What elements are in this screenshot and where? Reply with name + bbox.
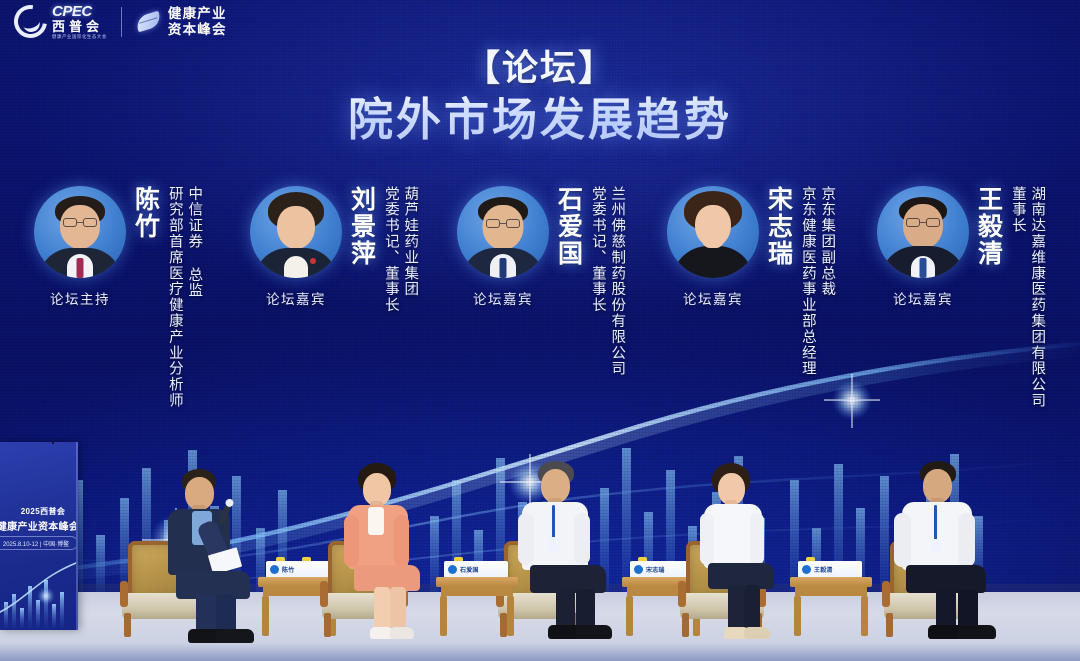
logo-dot-icon (270, 565, 279, 574)
logo-dot-icon (448, 565, 457, 574)
avatar (250, 186, 342, 278)
logo-dot-icon (802, 565, 811, 574)
panelist-title-line: 湖南达嘉维康医药集团有限公司 (1029, 186, 1044, 409)
rollup-line3: 2025.8.10-12 | 中国·博鳌 (0, 536, 78, 550)
avatar (457, 186, 549, 278)
panelist-card: 论坛嘉宾 刘景萍 葫芦娃药业集团 党委书记、董事长 (248, 186, 417, 313)
panelist-titles: 葫芦娃药业集团 党委书记、董事长 (379, 186, 418, 313)
panelist-seated (890, 455, 1002, 639)
panelist-title-line: 中信证券 总监 (186, 186, 201, 409)
panelist-name: 石爱国 (555, 186, 581, 267)
logo-dot-icon (634, 565, 643, 574)
panelist-seated (512, 455, 620, 639)
panelist-role: 论坛主持 (32, 288, 128, 308)
panelist-titles: 兰州佛慈制药股份有限公司 党委书记、董事长 (586, 186, 625, 377)
panelist-title-line: 党委书记、董事长 (383, 186, 398, 313)
panelist-name: 王毅清 (975, 186, 1001, 267)
forum-title-block: 【论坛】 院外市场发展趋势 (0, 46, 1080, 148)
avatar (34, 186, 126, 278)
badge (930, 539, 941, 553)
rollup-banner: 2025西普会 健康产业资本峰会 2025.8.10-12 | 中国·博鳌 (0, 442, 78, 630)
cpec-logo-cn: 西普会 (52, 20, 107, 33)
side-table: 石爱国 (436, 577, 518, 639)
panelist-title-line: 京东集团副总裁 (819, 186, 834, 377)
cpec-logo: CPEC 西普会 健康产业国际化生态大会 (14, 4, 107, 39)
badge (548, 537, 559, 551)
panelist-title-line: 董事长 (1010, 186, 1025, 409)
panelist-seated-moderator (152, 459, 262, 639)
panelist-role: 论坛嘉宾 (665, 288, 761, 308)
conference-stage-screenshot: CPEC 西普会 健康产业国际化生态大会 健康产业 资本峰会 【论坛】 院外市场… (0, 0, 1080, 661)
health-summit-line1: 健康产业 (168, 6, 227, 21)
name-plate-text: 陈竹 (282, 565, 294, 574)
forum-title-bracket: 【论坛】 (0, 46, 1080, 90)
panelist-seated (336, 457, 436, 639)
side-table: 王毅清 (790, 577, 872, 639)
cpec-logo-en: CPEC (52, 4, 107, 19)
panelist-title-line: 葫芦娃药业集团 (402, 186, 417, 313)
panelist-card: 论坛主持 陈竹 中信证券 总监 研究部首席医疗健康产业分析师 (32, 186, 201, 409)
panelist-name: 刘景萍 (348, 186, 374, 267)
forum-title-main: 院外市场发展趋势 (0, 92, 1080, 148)
rollup-line2: 健康产业资本峰会 (0, 518, 78, 533)
name-plate: 王毅清 (798, 561, 862, 578)
panelist-role: 论坛嘉宾 (455, 288, 551, 308)
panelist-titles: 京东集团副总裁 京东健康医药事业部总经理 (796, 186, 835, 377)
avatar (667, 186, 759, 278)
panelist-role: 论坛嘉宾 (248, 288, 344, 308)
panelist-title-line: 京东健康医药事业部总经理 (800, 186, 815, 377)
lanyard (552, 505, 555, 539)
name-plate-text: 王毅清 (814, 565, 833, 574)
panelist-card: 论坛嘉宾 石爱国 兰州佛慈制药股份有限公司 党委书记、董事长 (455, 186, 624, 377)
rollup-banner-graphic (0, 552, 78, 630)
health-summit-line2: 资本峰会 (168, 22, 227, 37)
panelist-role: 论坛嘉宾 (875, 288, 971, 308)
rollup-line1: 2025西普会 (6, 506, 78, 517)
panelist-name: 宋志瑞 (765, 186, 791, 267)
panelist-card: 论坛嘉宾 宋志瑞 京东集团副总裁 京东健康医药事业部总经理 (665, 186, 834, 377)
panelist-title-line: 兰州佛慈制药股份有限公司 (609, 186, 624, 377)
name-plate-text: 宋志瑞 (646, 565, 665, 574)
panelist-titles: 中信证券 总监 研究部首席医疗健康产业分析师 (163, 186, 202, 409)
panelist-card-row: 论坛主持 陈竹 中信证券 总监 研究部首席医疗健康产业分析师 论坛嘉宾 刘景萍 (0, 186, 1080, 446)
panelist-title-line: 研究部首席医疗健康产业分析师 (167, 186, 182, 409)
panelist-card: 论坛嘉宾 王毅清 湖南达嘉维康医药集团有限公司 董事长 (875, 186, 1044, 409)
cpec-logo-subtitle: 健康产业国际化生态大会 (52, 35, 107, 39)
panelist-title-line: 党委书记、董事长 (590, 186, 605, 377)
name-plate: 石爱国 (444, 561, 508, 578)
cpec-ring-icon (7, 0, 53, 45)
avatar (877, 186, 969, 278)
lanyard (934, 505, 937, 541)
panelist-titles: 湖南达嘉维康医药集团有限公司 董事长 (1006, 186, 1045, 409)
panelist-seated (692, 457, 788, 639)
logo-divider (121, 7, 122, 37)
name-plate-text: 石爱国 (460, 565, 479, 574)
panelist-name: 陈竹 (132, 186, 158, 240)
event-logo-bar: CPEC 西普会 健康产业国际化生态大会 健康产业 资本峰会 (14, 4, 227, 39)
health-summit-logo: 健康产业 资本峰会 (136, 6, 227, 37)
leaf-icon (134, 11, 162, 33)
